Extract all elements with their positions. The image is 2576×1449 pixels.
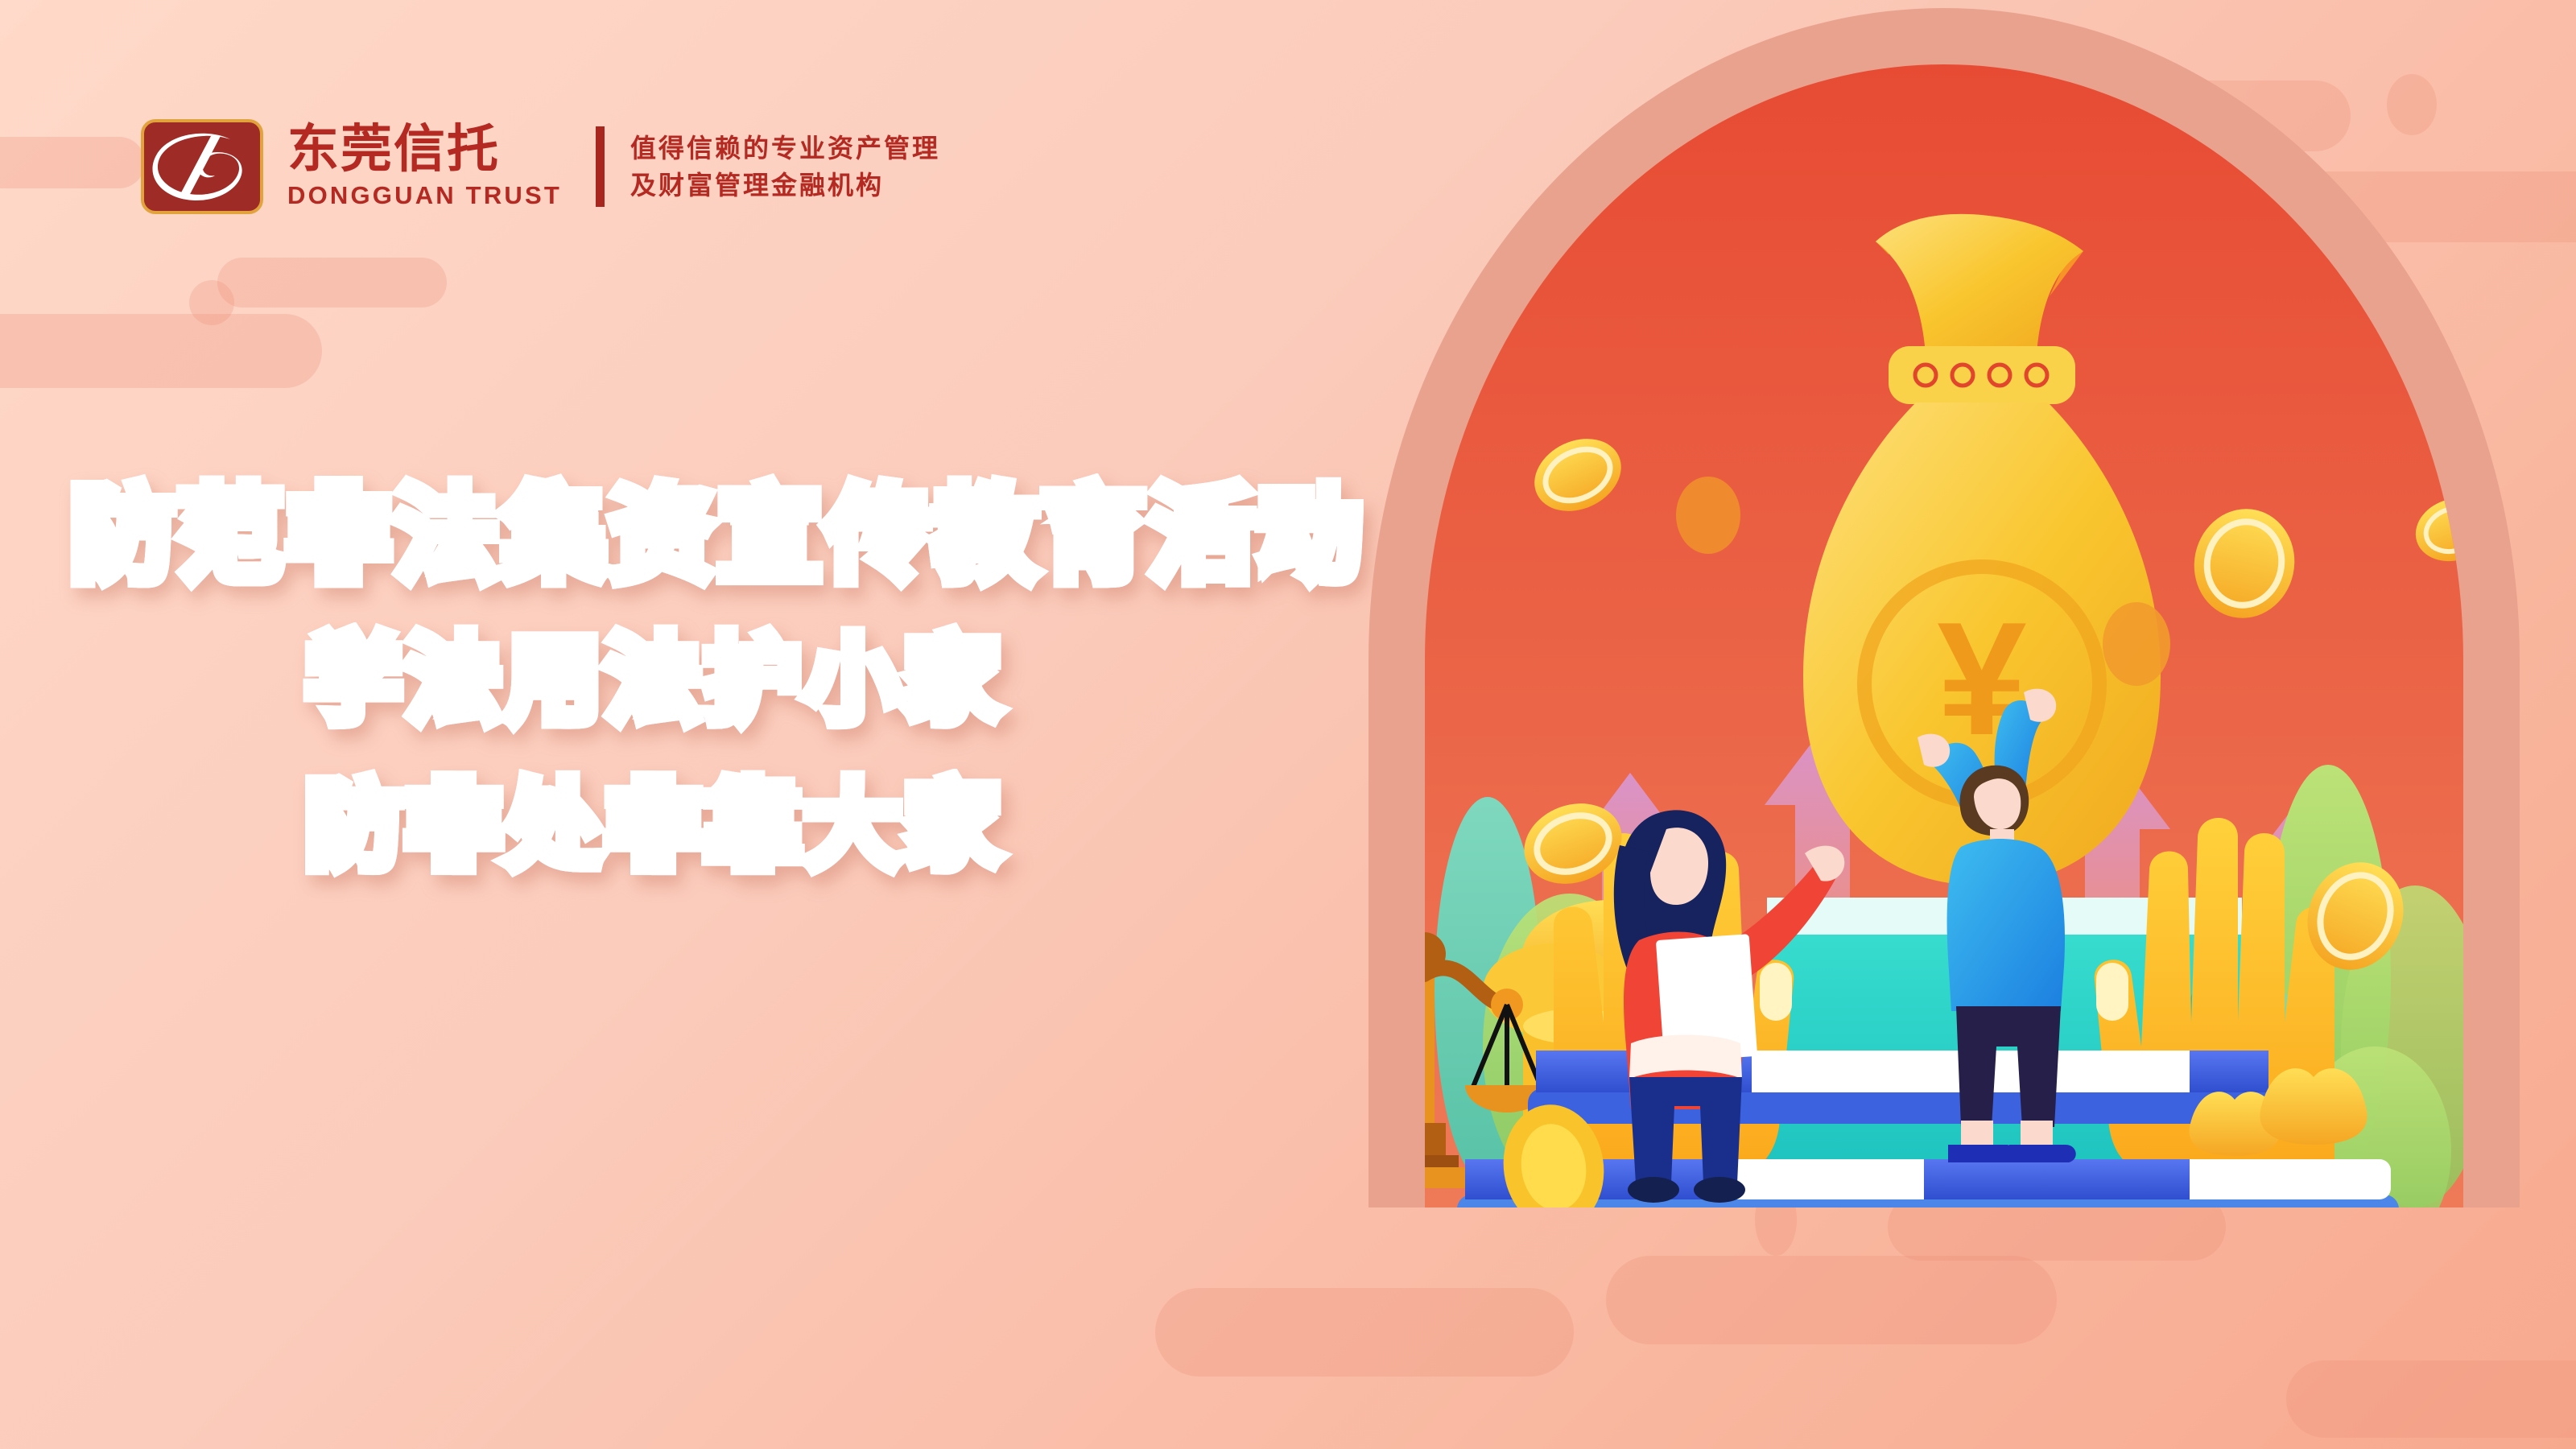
- dongguan-trust-emblem-icon: [141, 119, 263, 214]
- logo-divider: [596, 126, 605, 207]
- headline-block: 防范非法集资宣传教育活动 学法用法护小家 防非处非靠大家: [0, 475, 1401, 884]
- brand-logo[interactable]: 东莞信托 DONGGUAN TRUST 值得信赖的专业资产管理 及财富管理金融机…: [141, 119, 940, 214]
- headline-line-3: 防非处非靠大家: [0, 771, 1401, 883]
- brand-name-cn: 东莞信托: [287, 123, 562, 175]
- deco-blob: [189, 280, 234, 325]
- headline-line-2: 学法用法护小家: [0, 625, 1401, 737]
- headline-line-1: 防范非法集资宣传教育活动: [0, 475, 1401, 597]
- tagline-line-1: 值得信赖的专业资产管理: [630, 135, 940, 161]
- deco-pill: [0, 137, 145, 188]
- tagline-line-2: 及财富管理金融机构: [630, 172, 940, 198]
- illustration: ¥: [1312, 0, 2576, 1449]
- brand-tagline: 值得信赖的专业资产管理 及财富管理金融机构: [630, 135, 940, 198]
- brand-name-en: DONGGUAN TRUST: [287, 181, 562, 210]
- deco-pill: [217, 258, 447, 308]
- deco-pill: [0, 314, 322, 388]
